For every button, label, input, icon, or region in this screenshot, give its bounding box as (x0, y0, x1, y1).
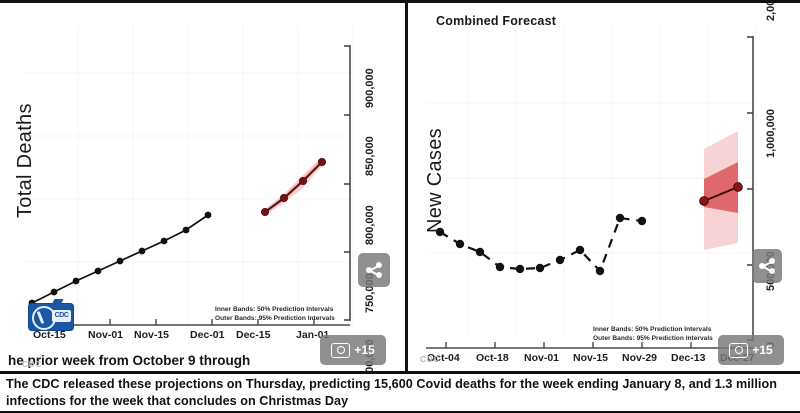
y-tick-label: 900,000 (364, 68, 376, 108)
figure-caption: The CDC released these projections on Th… (6, 376, 794, 410)
y-tick-label: 850,000 (364, 136, 376, 176)
share-button[interactable] (752, 249, 782, 283)
x-tick-label: Nov-29 (622, 352, 657, 364)
legend-inner-bands: Inner Bands: 50% Prediction Intervals (215, 305, 333, 314)
x-tick-label: Nov-15 (134, 329, 169, 341)
y-tick-label: 2,000,000 (765, 3, 777, 21)
legend-inner-bands: Inner Bands: 50% Prediction Intervals (593, 325, 711, 334)
x-tick-label: Nov-01 (524, 352, 559, 364)
photo-count-button[interactable]: +15 (718, 335, 784, 365)
photo-count-label: +15 (354, 343, 374, 357)
x-tick-label: Oct-18 (476, 352, 509, 364)
bleed-text-line: he prior week from October 9 through (8, 353, 250, 368)
photo-count-label: +15 (752, 343, 772, 357)
chart-title-combined-forecast: Combined Forecast (436, 14, 556, 28)
x-tick-label: Dec-13 (671, 352, 705, 364)
chart-panel-combined-forecast: Combined Forecast New Cases 2,000,000 1,… (405, 3, 800, 371)
article-image-figure: Total Deaths 900,000 850,000 800,000 750… (0, 0, 800, 413)
y-axis-title-left: Total Deaths (14, 103, 37, 218)
y-tick-label: 1,000,000 (765, 109, 777, 158)
chart-panel-total-deaths: Total Deaths 900,000 850,000 800,000 750… (0, 3, 400, 371)
cdc-logo-stem (51, 299, 63, 305)
camera-icon (331, 343, 350, 358)
legend-outer-bands: Outer Bands: 95% Prediction Intervals (215, 314, 335, 323)
combined-forecast-chart-svg (408, 3, 800, 371)
x-tick-label: Nov-15 (573, 352, 608, 364)
share-icon (366, 262, 382, 278)
legend-outer-bands: Outer Bands: 95% Prediction Intervals (593, 334, 713, 343)
camera-icon (729, 343, 748, 358)
cdc-watermark: CDC (420, 355, 440, 364)
y-tick-label: 800,000 (364, 205, 376, 245)
cdc-wordmark: CDC (52, 310, 71, 322)
share-button[interactable] (358, 253, 390, 287)
cdc-watermark: CDC (22, 360, 42, 369)
x-tick-label: Dec-01 (190, 329, 224, 341)
photo-count-button[interactable]: +15 (320, 335, 386, 365)
x-tick-label: Nov-01 (88, 329, 123, 341)
y-axis-title-right: New Cases (424, 128, 447, 233)
cdc-logo: CDC (28, 303, 74, 331)
share-icon (759, 258, 775, 274)
figure-caption-divider (0, 371, 800, 374)
x-tick-label: Dec-15 (236, 329, 270, 341)
